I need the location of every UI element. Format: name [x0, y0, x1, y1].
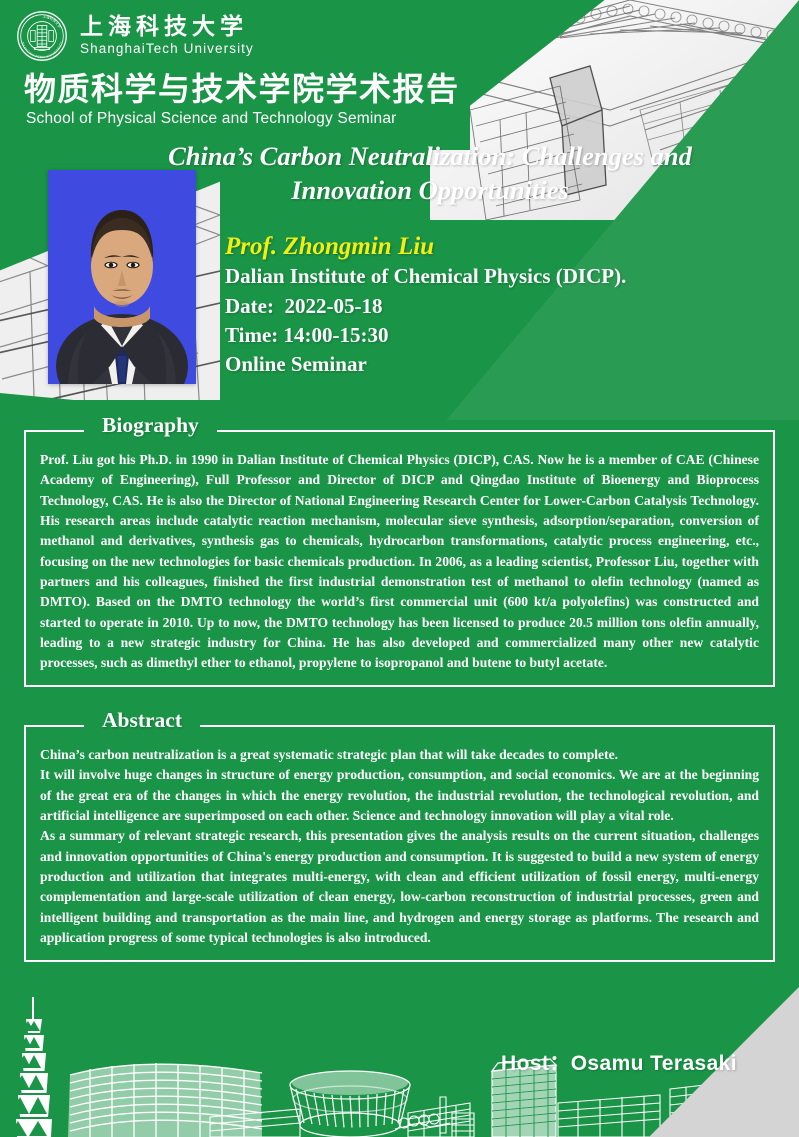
abstract-paragraph-1: China’s carbon neutralization is a great…	[40, 745, 759, 765]
speaker-details: Prof. Zhongmin Liu Dalian Institute of C…	[225, 231, 626, 380]
page-title: China’s Carbon Neutralization: Challenge…	[100, 140, 760, 208]
abstract-frame: Abstract China’s carbon neutralization i…	[24, 725, 775, 962]
biography-heading: Biography	[84, 412, 217, 438]
poster-header: 上海科技大学 SHANGHAITECH UNIVERSITY 上海科技大学 Sh…	[0, 0, 799, 128]
abstract-paragraph-2: It will involve huge changes in structur…	[40, 765, 759, 826]
department-title-en: School of Physical Science and Technolog…	[26, 110, 799, 128]
abstract-heading: Abstract	[84, 707, 200, 733]
seminar-time: Time: 14:00-15:30	[225, 321, 626, 350]
biography-body: Prof. Liu got his Ph.D. in 1990 in Dalia…	[36, 448, 763, 675]
university-identity: 上海科技大学 SHANGHAITECH UNIVERSITY 上海科技大学 Sh…	[0, 0, 799, 62]
university-name-block: 上海科技大学 ShanghaiTech University	[80, 14, 254, 57]
biography-section: Biography Prof. Liu got his Ph.D. in 199…	[24, 430, 775, 687]
abstract-body: China’s carbon neutralization is a great…	[36, 743, 763, 950]
university-name-cn: 上海科技大学	[80, 14, 254, 39]
abstract-section: Abstract China’s carbon neutralization i…	[24, 725, 775, 962]
biography-frame: Biography Prof. Liu got his Ph.D. in 199…	[24, 430, 775, 687]
seminar-date: Date: 2022-05-18	[225, 292, 626, 321]
university-name-en: ShanghaiTech University	[80, 40, 254, 58]
speaker-name: Prof. Zhongmin Liu	[225, 231, 626, 262]
department-title-cn: 物质科学与技术学院学术报告	[24, 72, 799, 108]
biography-paragraph: Prof. Liu got his Ph.D. in 1990 in Dalia…	[40, 450, 759, 673]
seminar-poster: 上海科技大学 SHANGHAITECH UNIVERSITY 上海科技大学 Sh…	[0, 0, 799, 1137]
svg-text:上海科技大学: 上海科技大学	[42, 14, 62, 30]
shanghaitech-seal-logo-icon: 上海科技大学 SHANGHAITECH UNIVERSITY	[16, 10, 68, 62]
talk-title-line-1: China’s Carbon Neutralization: Challenge…	[100, 140, 760, 174]
speaker-portrait-photo	[48, 170, 196, 384]
talk-title-line-2: Innovation Opportunities	[100, 174, 760, 208]
host-label: Host：Osamu Terasaki	[501, 1047, 737, 1077]
seminar-venue: Online Seminar	[225, 350, 626, 379]
abstract-paragraph-3: As a summary of relevant strategic resea…	[40, 826, 759, 948]
speaker-affiliation: Dalian Institute of Chemical Physics (DI…	[225, 262, 626, 291]
